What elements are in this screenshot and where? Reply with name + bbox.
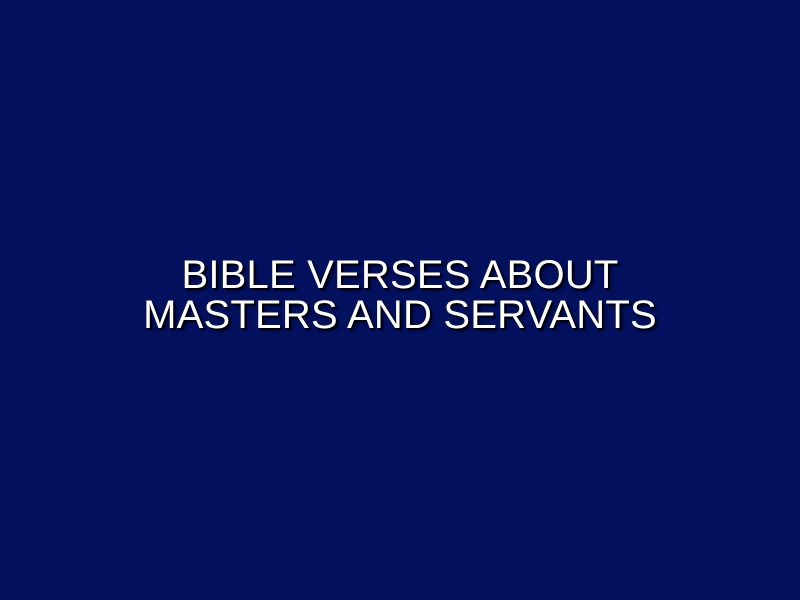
page-title: BIBLE VERSES ABOUT MASTERS AND SERVANTS bbox=[80, 255, 720, 335]
title-slide: BIBLE VERSES ABOUT MASTERS AND SERVANTS bbox=[0, 0, 800, 600]
title-block: BIBLE VERSES ABOUT MASTERS AND SERVANTS bbox=[80, 255, 720, 335]
